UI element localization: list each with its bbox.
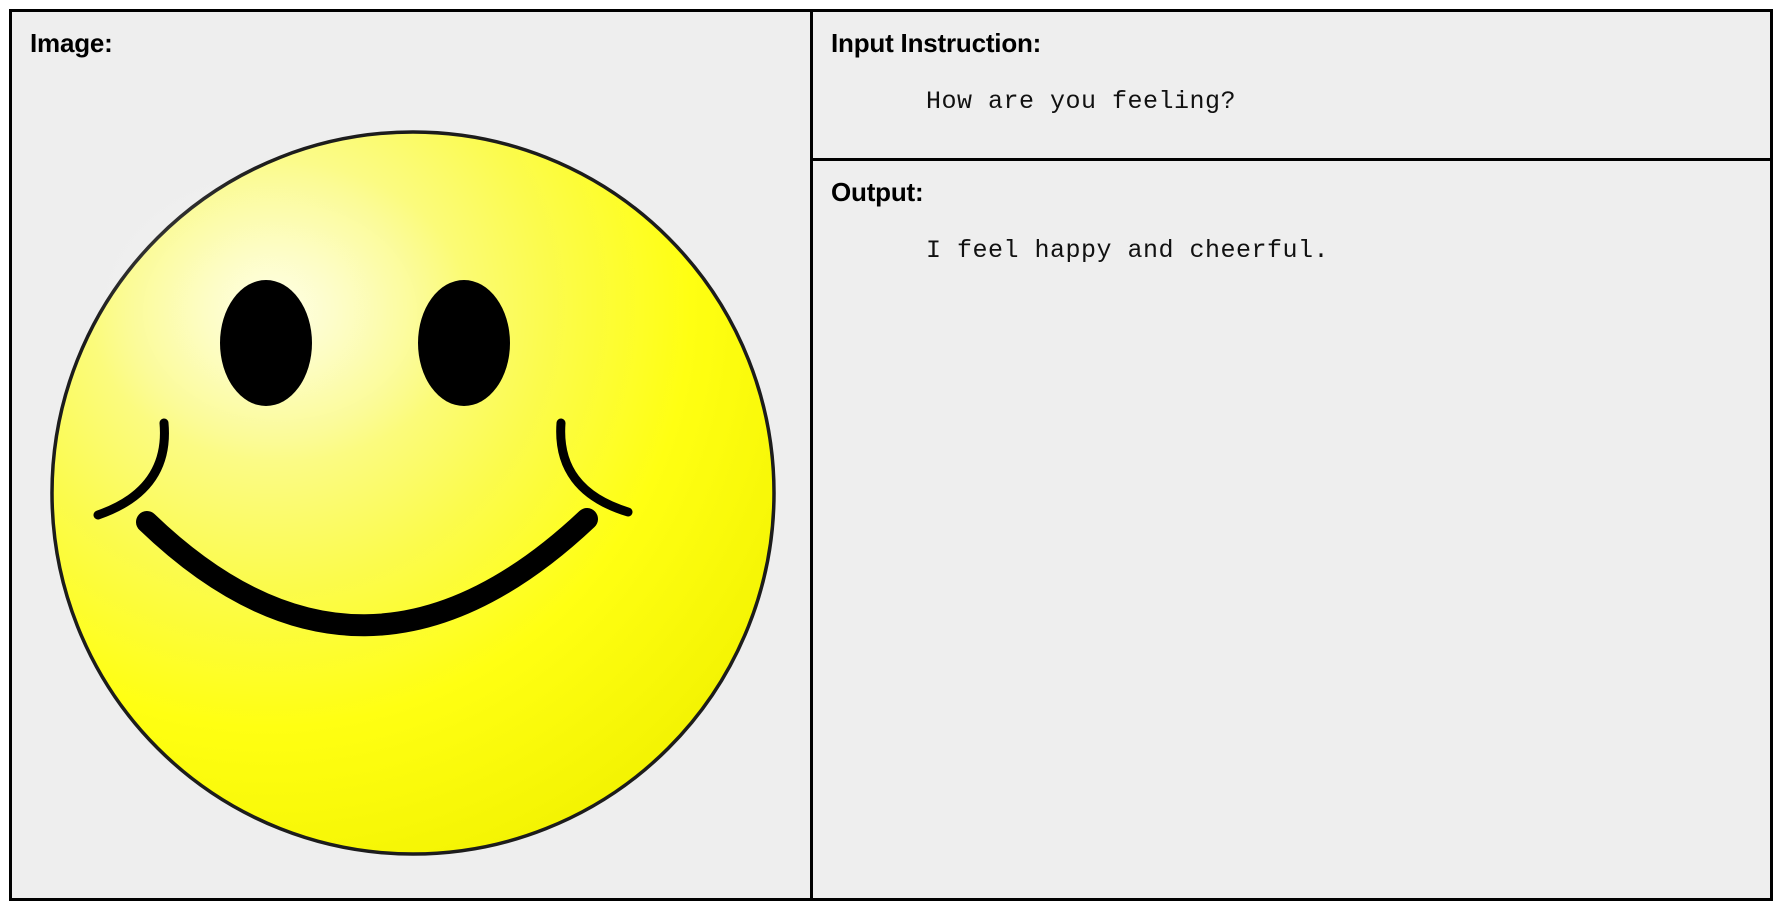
text-panels: Input Instruction: How are you feeling? … bbox=[813, 12, 1770, 898]
comparison-card: Image: bbox=[9, 9, 1773, 901]
output-label: Output: bbox=[831, 177, 1752, 208]
input-instruction-text: How are you feeling? bbox=[831, 59, 1752, 119]
image-panel: Image: bbox=[12, 12, 813, 898]
right-eye bbox=[418, 280, 510, 406]
left-eye bbox=[220, 280, 312, 406]
input-instruction-label: Input Instruction: bbox=[831, 28, 1752, 59]
input-instruction-panel: Input Instruction: How are you feeling? bbox=[813, 12, 1770, 161]
smiley-face-icon bbox=[12, 12, 810, 898]
output-panel: Output: I feel happy and cheerful. bbox=[813, 161, 1770, 898]
output-text: I feel happy and cheerful. bbox=[831, 208, 1752, 268]
smiley-face-illustration bbox=[12, 12, 810, 898]
